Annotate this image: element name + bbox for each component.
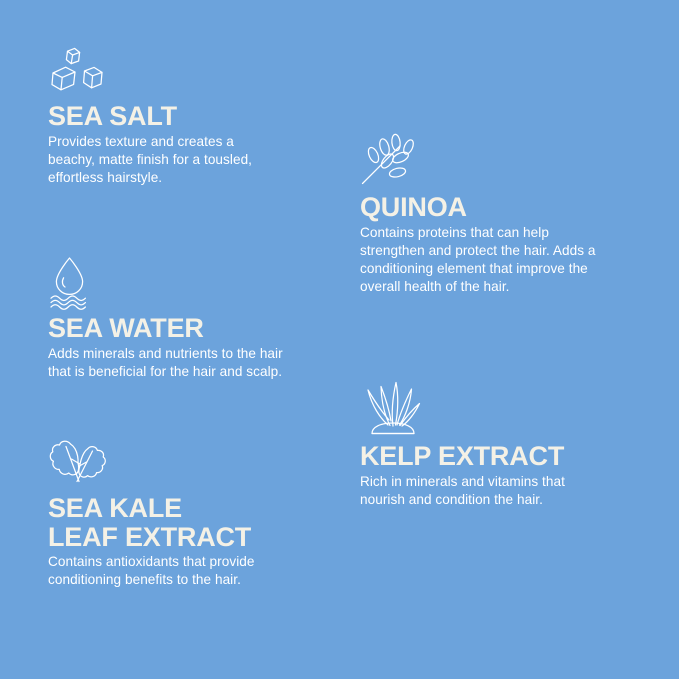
ingredient-description: Contains proteins that can help strength…	[360, 224, 628, 296]
ingredient-kelp-extract: KELP EXTRACT Rich in minerals and vitami…	[360, 380, 628, 509]
kale-leaves-icon	[48, 438, 316, 488]
ingredients-infographic: SEA SALT Provides texture and creates a …	[0, 0, 679, 679]
kelp-fronds-icon	[360, 380, 628, 436]
ingredient-title: SEA KALE LEAF EXTRACT	[48, 494, 316, 551]
ingredient-title: QUINOA	[360, 193, 628, 222]
water-droplet-waves-icon	[48, 256, 324, 308]
ingredient-quinoa: QUINOA Contains proteins that can help s…	[360, 133, 628, 296]
ingredient-sea-kale-leaf-extract: SEA KALE LEAF EXTRACT Contains antioxida…	[48, 438, 316, 589]
ingredient-sea-water: SEA WATER Adds minerals and nutrients to…	[48, 256, 324, 381]
ingredient-sea-salt: SEA SALT Provides texture and creates a …	[48, 46, 308, 187]
ingredient-title: SEA SALT	[48, 102, 308, 131]
quinoa-grain-stalk-icon	[360, 133, 628, 187]
ingredient-description: Provides texture and creates a beachy, m…	[48, 133, 308, 187]
ingredient-description: Contains antioxidants that provide condi…	[48, 553, 316, 589]
ingredient-description: Adds minerals and nutrients to the hair …	[48, 345, 324, 381]
salt-crystals-icon	[48, 46, 308, 96]
ingredient-title: KELP EXTRACT	[360, 442, 628, 471]
ingredient-title: SEA WATER	[48, 314, 324, 343]
ingredient-description: Rich in minerals and vitamins that nouri…	[360, 473, 628, 509]
